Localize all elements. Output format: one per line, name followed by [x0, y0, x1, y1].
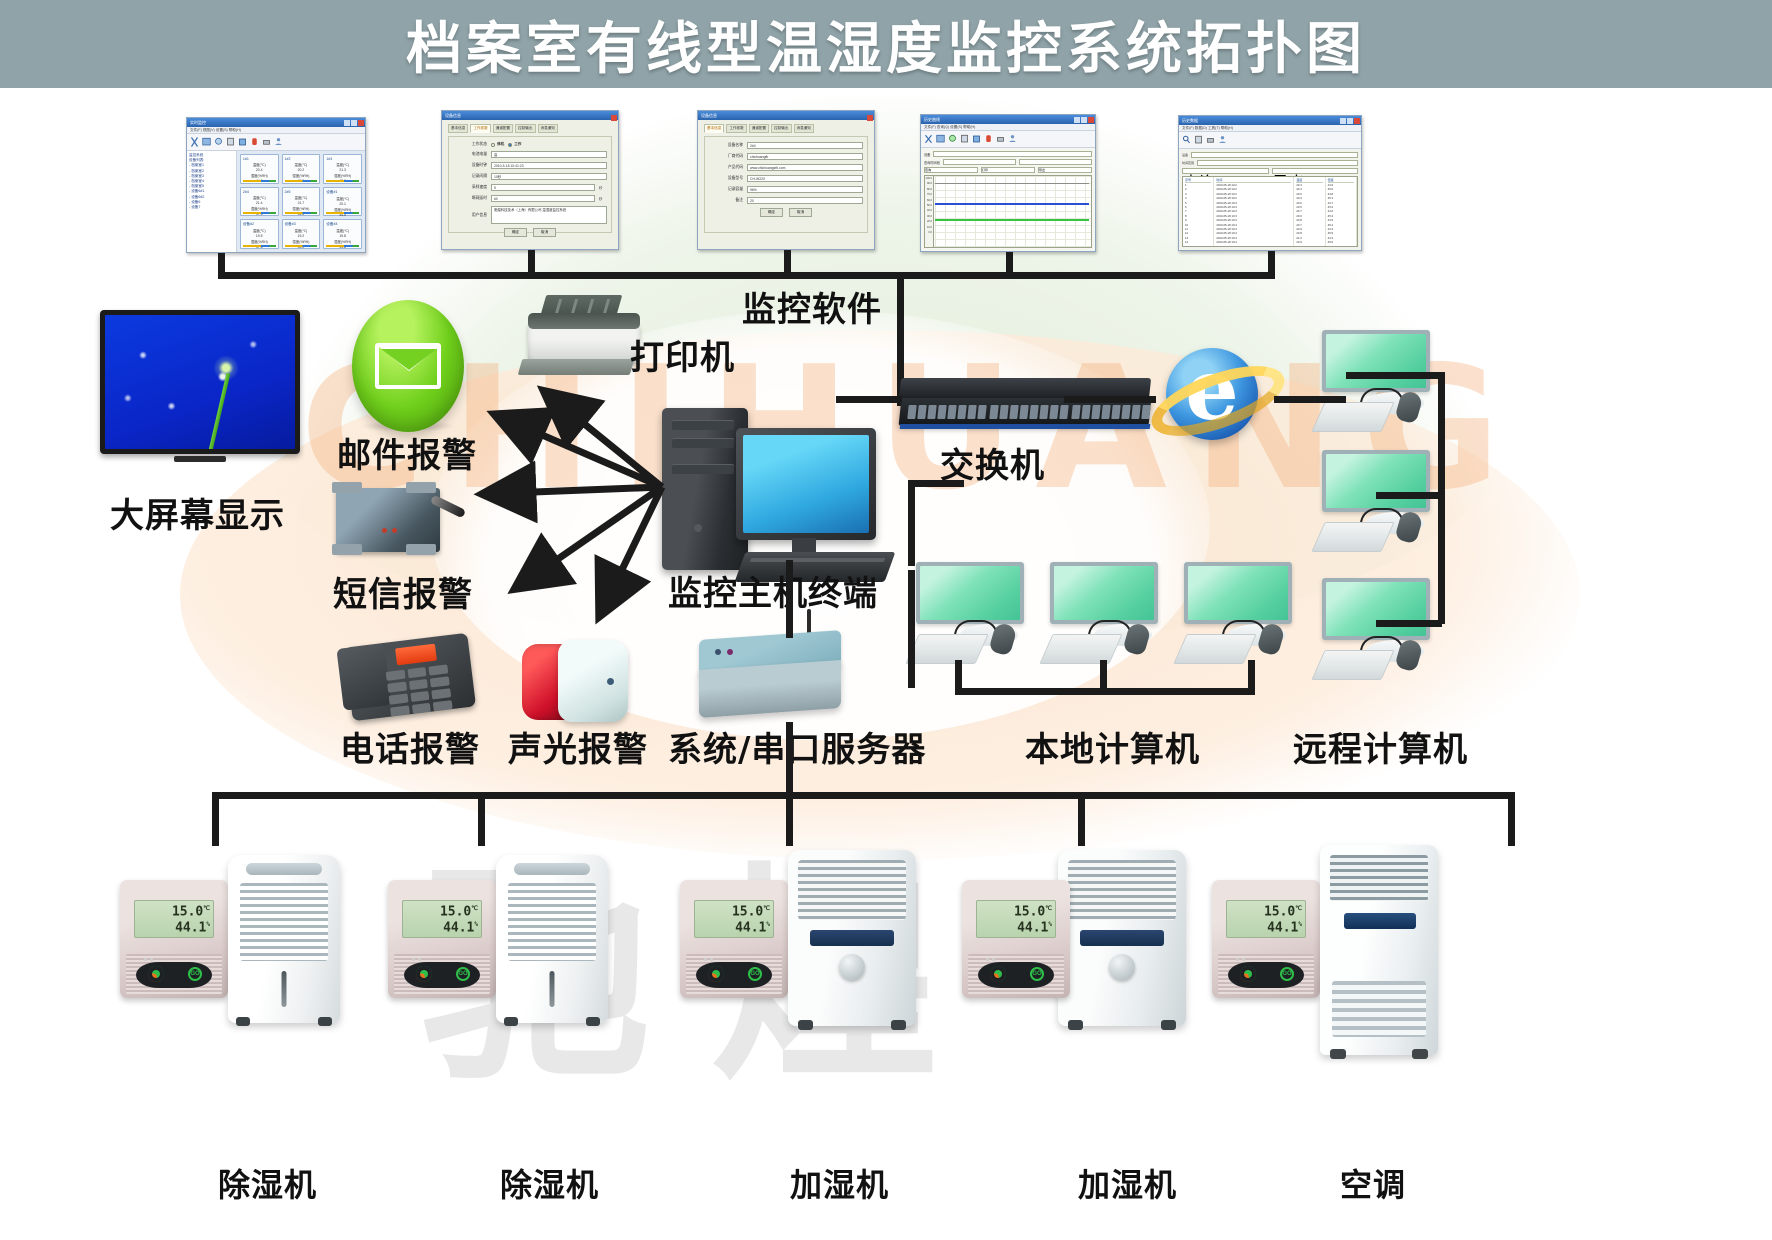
tab-work-params[interactable]: 工作参数	[470, 124, 490, 133]
appliance-handle	[282, 971, 287, 1007]
remote-2-line	[1376, 492, 1442, 499]
start-date-input[interactable]	[943, 159, 1016, 165]
client-screen	[1326, 454, 1426, 508]
sensor-lcd: 15.0℃ 44.1% ▮▮▮·01.0	[694, 900, 774, 938]
label-remote-computers: 远程计算机	[1293, 722, 1468, 771]
form-row-product: 产品代码 www.chichuangsfb.com	[709, 164, 863, 171]
status-led	[382, 528, 387, 533]
field-label: 断网延时	[453, 196, 487, 201]
air-conditioner-device[interactable]	[1320, 845, 1438, 1055]
go-indicator: GO	[1030, 967, 1044, 981]
query-row-range: 查询时间段	[924, 159, 1092, 165]
window-controls[interactable]	[1074, 117, 1094, 123]
card-status-bar	[243, 245, 276, 247]
sensor-device-1[interactable]: 15.0℃ 44.1% ▮▮▮·01.0 GO	[120, 880, 228, 998]
card-temp-label: 温度(℃)	[326, 162, 359, 167]
sensor-lcd-statusbar: ▮▮▮·01.0	[698, 936, 770, 938]
label-air-conditioner: 空调	[1340, 1160, 1406, 1206]
sensor-control-panel[interactable]: GO	[404, 962, 480, 988]
modem-plate	[336, 488, 440, 552]
sensor-device-3[interactable]: 15.0℃ 44.1% ▮▮▮·01.0 GO	[680, 880, 788, 998]
window-title: 设备信息	[442, 113, 611, 119]
appliance-foot	[504, 1017, 518, 1026]
sensor-device-4[interactable]: 15.0℃ 44.1% ▮▮▮·01.0 GO	[962, 880, 1070, 998]
host-right-line	[908, 480, 964, 487]
form-row-interval: 记录间隔 10秒	[453, 173, 607, 180]
settings-icon[interactable]	[238, 136, 247, 148]
dialog-tabs[interactable]: 基本信息 工作参数 通道配置 控制输出 消息通知	[704, 124, 868, 133]
clock-field[interactable]: 2010-5-18 10:41:23	[491, 162, 607, 169]
chart-icon[interactable]	[948, 133, 957, 145]
serial-port-server-device[interactable]	[695, 635, 845, 723]
cell: 21.1	[1296, 245, 1322, 247]
tab-channel-config[interactable]: 通道配置	[493, 124, 513, 133]
radio-label: 工作	[514, 142, 521, 147]
device-info-dialog-work[interactable]: 设备信息 基本信息 工作参数 通道配置 控制输出 消息通知 工作状态 停机 工作…	[441, 110, 619, 250]
power-button[interactable]	[694, 524, 702, 532]
radio-stop[interactable]: 停机	[491, 142, 504, 147]
card-hum-label: 湿度(%RH)	[326, 173, 359, 178]
client-keyboard[interactable]	[905, 634, 988, 664]
arrow-to-sms	[484, 487, 662, 494]
form-row-vendor: 厂商代码 chichuangfb	[709, 153, 863, 160]
sensor-card[interactable]: 设备#2 温度(℃) 19.5 湿度(%RH) 57.6	[240, 219, 279, 249]
card-title: 1#2	[285, 157, 318, 161]
grid-column-temp: 温度 20.420.320.5 20.420.620.5 20.720.620.…	[1294, 177, 1325, 246]
user-icon[interactable]	[274, 136, 283, 148]
arrow-to-mail	[496, 415, 662, 487]
query-label: 设备	[924, 152, 930, 157]
sensor-hum-line: 44.1%	[406, 918, 478, 934]
sensor-control-panel[interactable]: GO	[136, 962, 212, 988]
window-title: 实时监控	[187, 120, 344, 126]
appliance-foot	[891, 1020, 906, 1030]
query-button[interactable]: 查询	[924, 167, 978, 173]
cancel-button[interactable]: 取消	[789, 208, 812, 217]
card-temp-value: 19.2	[285, 234, 318, 238]
dehumidifier-device-1[interactable]	[228, 855, 340, 1023]
go-indicator: GO	[748, 967, 762, 981]
remote-computer-3[interactable]	[1318, 578, 1436, 686]
field-label: 备注	[709, 198, 743, 203]
sensor-control-panel[interactable]: GO	[696, 962, 772, 988]
print-icon[interactable]	[996, 133, 1005, 145]
arrow-to-phone	[516, 487, 662, 588]
server-status-leds	[715, 649, 733, 655]
window-menubar[interactable]: 文件(F) 数据(D) 工具(T) 帮助(H)	[1179, 125, 1361, 132]
filter-row-device: 设备	[1182, 152, 1358, 158]
sensor-dial-icon	[990, 966, 1006, 982]
panel-leds	[1236, 958, 1245, 961]
appliance-control-strip[interactable]	[246, 863, 322, 875]
telephone-keypad[interactable]	[386, 664, 453, 713]
card-hum-label: 湿度(%RH)	[285, 239, 318, 244]
query-buttons[interactable]: 查询 打印 导出	[924, 167, 1092, 173]
window-toolbar[interactable]	[187, 134, 365, 151]
dehumidifier-device-2[interactable]	[496, 855, 608, 1023]
card-temp-label: 温度(℃)	[243, 228, 276, 233]
sampling-field[interactable]: 5	[491, 184, 595, 191]
cancel-button[interactable]: 取消	[533, 228, 556, 237]
sensor-lcd-statusbar: ▮▮▮·01.0	[138, 936, 210, 938]
field-label: 设备时钟	[453, 163, 487, 168]
humidifier-device-1[interactable]	[788, 850, 916, 1026]
large-display-screen[interactable]	[100, 310, 300, 454]
filter-label: 设备	[1182, 153, 1188, 157]
sensor-card[interactable]: 设备#4 温度(℃) 19.8 湿度(%RH) 54.8	[323, 219, 362, 249]
card-status-bar	[326, 245, 359, 247]
label-sound-light-alarm: 声光报警	[508, 722, 648, 771]
end-date-input[interactable]	[1019, 159, 1092, 165]
window-body: 监控系统 设备列表: - 档案室1 - 档案室2 - 档案室3 - 档案室4 -…	[187, 151, 365, 252]
appliance-knob[interactable]	[839, 954, 865, 980]
panel-leds	[412, 958, 421, 961]
alarm-led	[607, 678, 614, 685]
dialog-body: 基本信息 工作参数 通道配置 控制输出 消息通知 工作状态 停机 工作 电池电量…	[442, 120, 618, 249]
server-base	[699, 660, 841, 718]
field-label: 记录容量	[709, 187, 743, 192]
appliance-grille	[240, 883, 328, 961]
local-computer-1[interactable]	[912, 562, 1030, 670]
tab-channel-config[interactable]: 通道配置	[749, 124, 769, 133]
connect-icon[interactable]	[190, 136, 199, 148]
alarm-icon[interactable]	[250, 136, 259, 148]
appliance-grille	[798, 860, 906, 920]
local-bus-left-drop	[908, 570, 915, 688]
y-axis: 100.0 90.0 80.0 70.0 60.0 50.0 40.0 30.0…	[925, 176, 934, 247]
sensor-card[interactable]: 2#4 温度(℃) 21.4 湿度(%RH) 47.6	[240, 187, 279, 217]
appliance-foot	[586, 1017, 600, 1026]
sensor-hum-line: 44.1%	[1230, 918, 1302, 934]
window-controls[interactable]	[1340, 118, 1360, 124]
window-titlebar: 设备信息	[442, 111, 618, 120]
form-row-work-state: 工作状态 停机 工作	[453, 142, 607, 147]
card-temp-value: 20.1	[326, 202, 359, 206]
form-row-userinfo: 用户信息 驰煌科技技术（上海）有限公司 温湿度监控系统	[453, 206, 607, 224]
appliance-display	[810, 930, 894, 946]
panel-leds	[986, 958, 995, 961]
label-humidifier-2: 加湿机	[1078, 1160, 1177, 1206]
print-icon[interactable]	[1206, 134, 1215, 146]
client-screen	[920, 566, 1020, 620]
remote-3-line	[1376, 620, 1442, 627]
user-icon[interactable]	[1008, 133, 1017, 145]
alarm-icon[interactable]	[984, 133, 993, 145]
export-icon[interactable]	[960, 133, 969, 145]
device-tree[interactable]: 监控系统 设备列表: - 档案室1 - 档案室2 - 档案室3 - 档案室4 -…	[187, 151, 237, 252]
tab-control-output[interactable]: 控制输出	[515, 124, 535, 133]
sensor-lcd-statusbar: ▮▮▮·01.0	[1230, 936, 1302, 938]
arrow-to-printer	[545, 392, 662, 487]
sensor-card[interactable]: 1#3 温度(℃) 21.3 湿度(%RH) 47.3	[323, 154, 362, 184]
client-screen	[1188, 566, 1288, 620]
pc-screen	[743, 435, 869, 533]
timeout-field[interactable]: 60	[491, 195, 595, 202]
dialog-tabs[interactable]: 基本信息 工作参数 通道配置 控制输出 消息通知	[448, 124, 612, 133]
window-menubar[interactable]: 文件(F) 视图(V) 设置(S) 帮助(H)	[187, 127, 365, 134]
window-toolbar[interactable]	[1179, 132, 1361, 149]
remote-computer-1[interactable]	[1318, 330, 1436, 438]
device-info-dialog-basic[interactable]: 设备信息 基本信息 工作参数 通道配置 控制输出 消息通知 设备名称 2#4 厂…	[697, 110, 875, 250]
history-curve-window[interactable]: 历史曲线 文件(F) 查询(Q) 设置(S) 帮助(H) 设备 查询时间段 查询…	[920, 114, 1096, 252]
local-3-drop	[1248, 660, 1255, 694]
panel-leds	[704, 958, 713, 961]
filter-row-range: 时间范围	[1182, 160, 1358, 166]
filter-buttons[interactable]: 查询 导出	[1182, 168, 1358, 174]
cell: 44.2	[1328, 245, 1354, 247]
appliance-top-vent	[1330, 855, 1428, 901]
chart-body: 设备 查询时间段 查询 打印 导出 100.0 90.0 80.0 70.0 6…	[921, 148, 1095, 251]
realtime-monitor-window[interactable]: 实时监控 文件(F) 视图(V) 设置(S) 帮助(H) 监控系统 设备列表: …	[186, 117, 366, 253]
card-status-bar	[285, 180, 318, 182]
appliance-bottom-vent	[1332, 981, 1426, 1037]
field-label: 采样速度	[453, 185, 487, 190]
user-icon[interactable]	[1218, 134, 1227, 146]
form-row-devname: 设备名称 2#4	[709, 142, 863, 149]
sensor-control-panel[interactable]: GO	[1228, 962, 1304, 988]
client-keyboard[interactable]	[1311, 402, 1394, 432]
appliance-foot	[1330, 1049, 1346, 1059]
printer-top-cover	[528, 313, 640, 329]
print-button[interactable]: 打印	[981, 167, 1035, 173]
sensor-card[interactable]: 设备#3 温度(℃) 19.2 湿度(%RH) 55.0	[282, 219, 321, 249]
sensor-lcd-statusbar: ▮▮▮·01.0	[980, 936, 1052, 938]
radio-label: 停机	[497, 142, 504, 147]
tab-basic-info[interactable]: 基本信息	[704, 124, 724, 133]
card-status-bar	[285, 212, 318, 214]
device-select[interactable]	[1191, 152, 1358, 158]
dialog-buttons[interactable]: 确定 取消	[453, 228, 607, 237]
go-indicator: GO	[1280, 967, 1294, 981]
switch-to-internet-line	[1064, 396, 1156, 403]
card-hum-label: 湿度(%RH)	[326, 207, 359, 212]
model-field[interactable]: CH-W220	[747, 175, 863, 182]
filter-label: 时间范围	[1182, 161, 1194, 165]
label-phone-alarm: 电话报警	[340, 722, 480, 771]
history-data-window[interactable]: 历史数据 文件(F) 数据(D) 工具(T) 帮助(H) 设备 时间范围 查询 …	[1178, 115, 1362, 251]
product-field[interactable]: www.chichuangsfb.com	[747, 164, 863, 171]
window-titlebar: 历史数据	[1179, 116, 1361, 125]
go-indicator: GO	[456, 967, 470, 981]
unit-label: 秒	[599, 185, 607, 190]
network-switch-device[interactable]	[900, 378, 1150, 438]
tab-work-params[interactable]: 工作参数	[726, 124, 746, 133]
print-icon[interactable]	[262, 136, 271, 148]
card-temp-label: 温度(℃)	[326, 196, 359, 201]
appliance-foot	[1068, 1020, 1083, 1030]
status-led	[392, 528, 397, 533]
card-title: 设备#1	[326, 190, 359, 195]
client-keyboard[interactable]	[1311, 650, 1394, 680]
host-down-line	[908, 480, 915, 566]
client-screen	[1326, 582, 1426, 636]
client-monitor	[916, 562, 1024, 624]
unit-label: 秒	[599, 196, 607, 201]
card-title: 1#3	[326, 157, 359, 161]
window-title: 设备信息	[698, 113, 867, 119]
remark-field[interactable]: 20	[747, 197, 863, 204]
history-curve-plot: 100.0 90.0 80.0 70.0 60.0 50.0 40.0 30.0…	[924, 175, 1092, 248]
device-select[interactable]	[933, 151, 1092, 157]
grid-column-time: 时间 2010-05-18 10:22010-05-18 10:2 2010-0…	[1214, 177, 1294, 246]
sensor-device-2[interactable]: 15.0℃ 44.1% ▮▮▮·01.0 GO	[388, 880, 496, 998]
window-controls[interactable]	[867, 115, 873, 121]
phone-alarm-device[interactable]	[338, 628, 478, 720]
dialog-buttons[interactable]: 确定 取消	[709, 208, 863, 217]
equipment-drop-3	[786, 792, 793, 846]
dandelion-stem	[208, 373, 230, 449]
sensor-device-5[interactable]: 15.0℃ 44.1% ▮▮▮·01.0 GO	[1212, 880, 1320, 998]
appliance-handle	[550, 971, 555, 1007]
appliance-knob[interactable]	[1109, 954, 1135, 980]
client-keyboard[interactable]	[1039, 634, 1122, 664]
serial-server-uplink	[786, 560, 793, 638]
connect-icon[interactable]	[924, 133, 933, 145]
sensor-control-panel[interactable]: GO	[978, 962, 1054, 988]
internet-explorer-icon[interactable]	[1148, 340, 1288, 458]
local-computer-2[interactable]	[1046, 562, 1164, 670]
mount-ear	[332, 544, 362, 555]
appliance-foot	[318, 1017, 332, 1026]
tree-node[interactable]: - 设备7	[189, 205, 234, 210]
table-icon[interactable]	[202, 136, 211, 148]
capacity-field[interactable]: 96%	[747, 186, 863, 193]
client-screen	[1054, 566, 1154, 620]
label-dehumidifier-1: 除湿机	[218, 1160, 317, 1206]
monitoring-host-terminal[interactable]	[662, 402, 902, 592]
query-icon[interactable]	[1182, 134, 1191, 146]
sensor-dial-icon	[148, 966, 164, 982]
tab-basic-info[interactable]: 基本信息	[448, 124, 468, 133]
humidifier-device-2[interactable]	[1058, 850, 1186, 1026]
appliance-control-strip[interactable]	[514, 863, 590, 875]
mail-alarm-icon[interactable]	[352, 300, 464, 432]
card-status-bar	[326, 212, 359, 214]
export-button[interactable]: 导出	[1038, 167, 1092, 173]
equipment-drop-1	[212, 792, 219, 846]
table-icon[interactable]	[936, 133, 945, 145]
ok-button[interactable]: 确定	[760, 208, 783, 217]
sensor-card[interactable]: 1#1 温度(℃) 20.4 湿度(%RH) 44.9	[240, 154, 279, 184]
local-computer-3[interactable]	[1180, 562, 1298, 670]
card-temp-label: 温度(℃)	[326, 228, 359, 233]
sensor-card[interactable]: 设备#1 温度(℃) 20.1 湿度(%RH) 44.5	[323, 187, 362, 217]
field-label: 设备名称	[709, 143, 743, 148]
interval-select[interactable]: 10秒	[491, 173, 607, 180]
chart-icon[interactable]	[214, 136, 223, 148]
appliance-foot	[236, 1017, 250, 1026]
card-hum-label: 湿度(%RH)	[243, 173, 276, 178]
sensor-card[interactable]: 1#2 温度(℃) 20.2 湿度(%RH) 45.0	[282, 154, 321, 184]
dialog-body: 基本信息 工作参数 通道配置 控制输出 消息通知 设备名称 2#4 厂商代码 c…	[698, 120, 874, 249]
form-row-clock: 设备时钟 2010-5-18 10:41:23	[453, 162, 607, 169]
equipment-drop-4	[1078, 792, 1085, 846]
label-big-screen: 大屏幕显示	[110, 488, 285, 537]
mount-ear	[332, 482, 362, 493]
ok-button[interactable]: 确定	[504, 228, 527, 237]
tab-control-output[interactable]: 控制输出	[771, 124, 791, 133]
window-controls[interactable]	[344, 120, 364, 126]
device-name-field[interactable]: 2#4	[747, 142, 863, 149]
card-status-bar	[326, 180, 359, 182]
cell: 2010-05-18 10:5	[1216, 245, 1291, 247]
card-temp-label: 温度(℃)	[285, 195, 318, 200]
userinfo-textarea[interactable]: 驰煌科技技术（上海）有限公司 温湿度监控系统	[491, 206, 607, 224]
envelope-icon	[375, 343, 441, 389]
sensor-card[interactable]: 2#5 温度(℃) 21.7 湿度(%RH) 44.4	[282, 187, 321, 217]
client-monitor	[1184, 562, 1292, 624]
field-label: 工作状态	[453, 142, 487, 147]
window-titlebar: 实时监控	[187, 118, 365, 127]
panel-leds	[144, 958, 153, 961]
series-frame-line	[935, 183, 1089, 184]
query-button[interactable]: 查询	[1182, 168, 1269, 174]
window-toolbar[interactable]	[921, 131, 1095, 148]
remote-computer-2[interactable]	[1318, 450, 1436, 558]
equipment-drop-5	[1508, 792, 1515, 846]
range-input[interactable]	[1197, 160, 1358, 166]
sensor-hum-line: 44.1%	[138, 918, 210, 934]
page-title: 档案室有线型温湿度监控系统拓扑图	[406, 4, 1366, 85]
window-title: 历史曲线	[921, 117, 1074, 123]
window-titlebar: 历史曲线	[921, 115, 1095, 124]
sensor-temp-line: 15.0℃	[1230, 902, 1302, 918]
arrow-to-sound-light	[600, 487, 662, 615]
sensor-lcd: 15.0℃ 44.1% ▮▮▮·01.0	[134, 900, 214, 938]
sensor-hum-line: 44.1%	[698, 918, 770, 934]
client-keyboard[interactable]	[1173, 634, 1256, 664]
label-printer: 打印机	[630, 330, 735, 379]
form-row-model: 设备型号 CH-W220	[709, 175, 863, 182]
card-title: 设备#2	[243, 222, 276, 227]
export-icon[interactable]	[226, 136, 235, 148]
software-bus-line	[218, 272, 1275, 279]
history-data-grid[interactable]: 序号 123 456 789 101112 131415 161718 时间 2…	[1182, 176, 1358, 247]
equipment-bus-line	[212, 792, 1514, 799]
client-keyboard[interactable]	[1311, 522, 1394, 552]
sms-alarm-modem[interactable]	[330, 482, 458, 558]
pc-monitor	[736, 428, 876, 540]
dialog-form: 工作状态 停机 工作 电池电量 高 设备时钟 2010-5-18 10:41:2…	[448, 136, 612, 233]
card-status-bar	[285, 245, 318, 247]
label-serial-server: 系统/串口服务器	[668, 722, 926, 771]
appliance-foot	[1412, 1049, 1428, 1059]
export-icon[interactable]	[1194, 134, 1203, 146]
form-row-battery: 电池电量 高	[453, 151, 607, 158]
vendor-field[interactable]: chichuangfb	[747, 153, 863, 160]
local-2-drop	[1100, 660, 1107, 694]
label-humidifier-1: 加湿机	[790, 1160, 889, 1206]
sensor-hum-line: 44.1%	[980, 918, 1052, 934]
sound-light-alarm-device[interactable]	[522, 638, 632, 724]
tab-notify[interactable]: 消息通知	[538, 124, 558, 133]
radio-work[interactable]: 工作	[508, 142, 521, 147]
table-body: 设备 时间范围 查询 导出 序号 123 456 789 101112 1314…	[1179, 149, 1361, 250]
label-sms-alarm: 短信报警	[333, 567, 473, 616]
sensor-lcd: 15.0℃ 44.1% ▮▮▮·01.0	[402, 900, 482, 938]
client-monitor	[1322, 578, 1430, 640]
sensor-temp-line: 15.0℃	[980, 902, 1052, 918]
window-controls[interactable]	[611, 115, 617, 121]
battery-field[interactable]: 高	[491, 151, 607, 158]
settings-icon[interactable]	[972, 133, 981, 145]
field-label: 厂商代码	[709, 154, 743, 159]
export-button[interactable]: 导出	[1272, 168, 1359, 174]
tab-notify[interactable]: 消息通知	[794, 124, 814, 133]
card-title: 2#5	[285, 190, 318, 194]
window-menubar[interactable]: 文件(F) 查询(Q) 设置(S) 帮助(H)	[921, 124, 1095, 131]
y-tick: 0.0	[925, 230, 933, 235]
